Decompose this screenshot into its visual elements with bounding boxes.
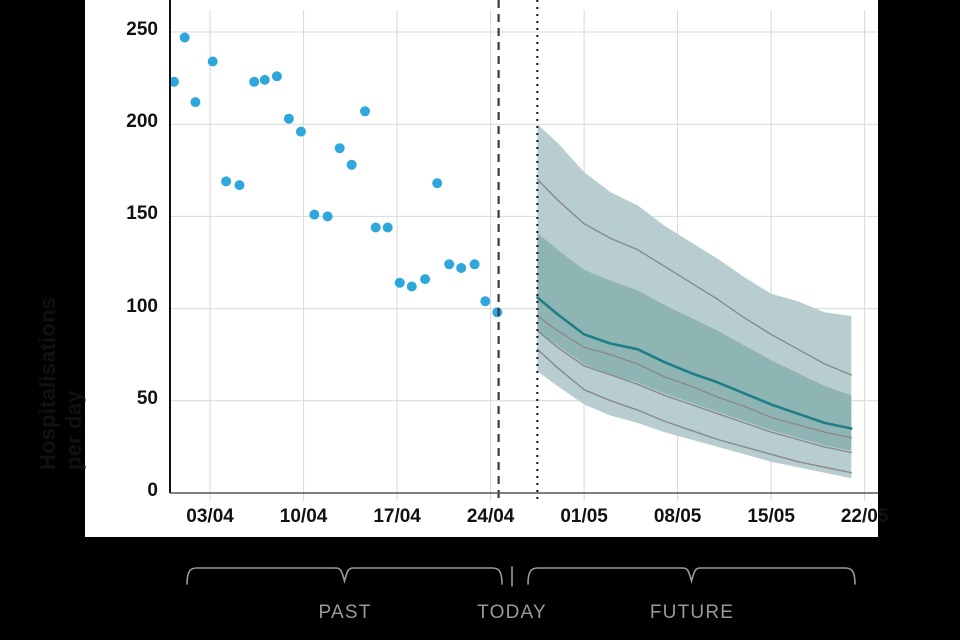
observed-data-point (309, 210, 319, 220)
observed-data-point (260, 75, 270, 85)
x-tick-label: 01/05 (539, 506, 629, 528)
observed-data-point (221, 176, 231, 186)
observed-data-point (407, 282, 417, 292)
observed-data-point (470, 259, 480, 269)
observed-data-point (323, 211, 333, 221)
observed-data-point (235, 180, 245, 190)
phase-label-past: PAST (255, 602, 435, 624)
observed-data-point (272, 71, 282, 81)
y-tick-label: 250 (98, 19, 158, 41)
chart-canvas (0, 0, 960, 640)
x-tick-label: 03/04 (165, 506, 255, 528)
y-tick-label: 100 (98, 296, 158, 318)
observed-data-point (360, 106, 370, 116)
phase-label-future: FUTURE (602, 602, 782, 624)
observed-data-point (208, 57, 218, 67)
x-tick-label: 15/05 (726, 506, 816, 528)
y-tick-label: 0 (98, 480, 158, 502)
observed-data-point (456, 263, 466, 273)
y-tick-label: 50 (98, 388, 158, 410)
x-tick-label: 10/04 (259, 506, 349, 528)
observed-data-point (284, 114, 294, 124)
today-marker-layer (499, 0, 538, 499)
observed-data-point (180, 33, 190, 43)
observed-data-point (190, 97, 200, 107)
x-tick-label: 08/05 (633, 506, 723, 528)
phase-label-today: TODAY (422, 602, 602, 624)
x-tick-label: 17/04 (352, 506, 442, 528)
observed-data-point (347, 160, 357, 170)
past-bracket (187, 568, 502, 584)
observed-data-point (249, 77, 259, 87)
observed-data-point (383, 223, 393, 233)
observed-data-point (296, 127, 306, 137)
observed-data-point (335, 143, 345, 153)
x-tick-label: 24/04 (446, 506, 536, 528)
y-tick-label: 200 (98, 111, 158, 133)
future-bracket (528, 568, 855, 584)
observed-data-point (492, 307, 502, 317)
y-tick-label: 150 (98, 203, 158, 225)
observed-data-point (420, 274, 430, 284)
x-tick-label: 22/05 (820, 506, 910, 528)
observed-data-point (395, 278, 405, 288)
observed-data-point (371, 223, 381, 233)
observed-points-layer (169, 33, 502, 318)
observed-data-point (432, 178, 442, 188)
observed-data-point (444, 259, 454, 269)
chart-root: Hospitalisations per day 050100150200250… (0, 0, 960, 640)
phase-bracket-layer (187, 567, 855, 586)
observed-data-point (480, 296, 490, 306)
